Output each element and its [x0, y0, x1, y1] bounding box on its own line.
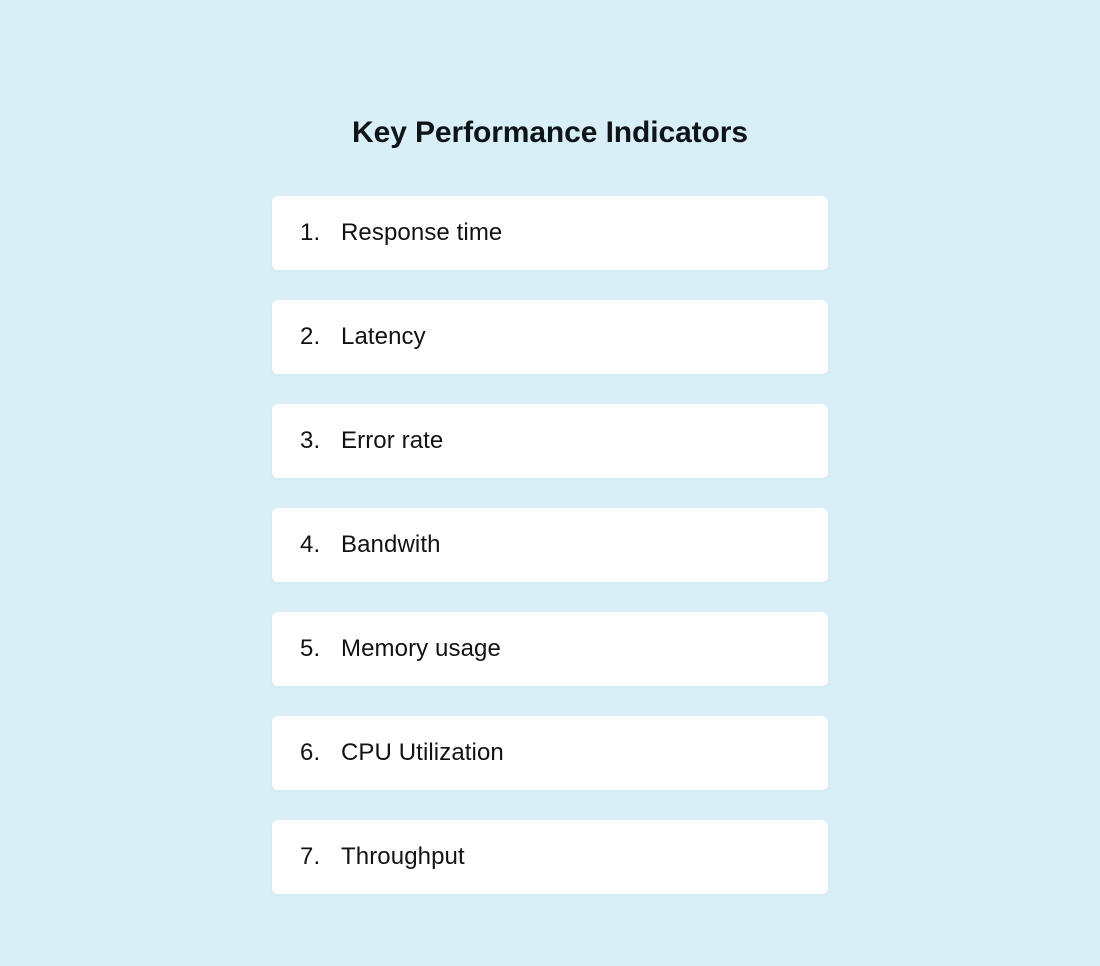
- list-item-number: 6.: [300, 738, 331, 768]
- list-item-number: 4.: [300, 530, 331, 560]
- list-item[interactable]: 3. Error rate: [272, 404, 828, 478]
- list-item-label: Latency: [341, 322, 808, 352]
- list-item[interactable]: 2. Latency: [272, 300, 828, 374]
- list-item[interactable]: 1. Response time: [272, 196, 828, 270]
- list-item[interactable]: 5. Memory usage: [272, 612, 828, 686]
- list-item[interactable]: 7. Throughput: [272, 820, 828, 894]
- list-item-label: Bandwith: [341, 530, 808, 560]
- list-item[interactable]: 4. Bandwith: [272, 508, 828, 582]
- list-item-number: 3.: [300, 426, 331, 456]
- kpi-list: 1. Response time 2. Latency 3. Error rat…: [272, 196, 828, 894]
- list-item-number: 7.: [300, 842, 331, 872]
- list-item-number: 5.: [300, 634, 331, 664]
- kpi-page: Key Performance Indicators 1. Response t…: [0, 0, 1100, 966]
- list-item-number: 1.: [300, 218, 331, 248]
- page-title: Key Performance Indicators: [0, 112, 1100, 154]
- list-item-label: Error rate: [341, 426, 808, 456]
- list-item-label: CPU Utilization: [341, 738, 808, 768]
- list-item[interactable]: 6. CPU Utilization: [272, 716, 828, 790]
- list-item-label: Throughput: [341, 842, 808, 872]
- list-item-number: 2.: [300, 322, 331, 352]
- list-item-label: Response time: [341, 218, 808, 248]
- list-item-label: Memory usage: [341, 634, 808, 664]
